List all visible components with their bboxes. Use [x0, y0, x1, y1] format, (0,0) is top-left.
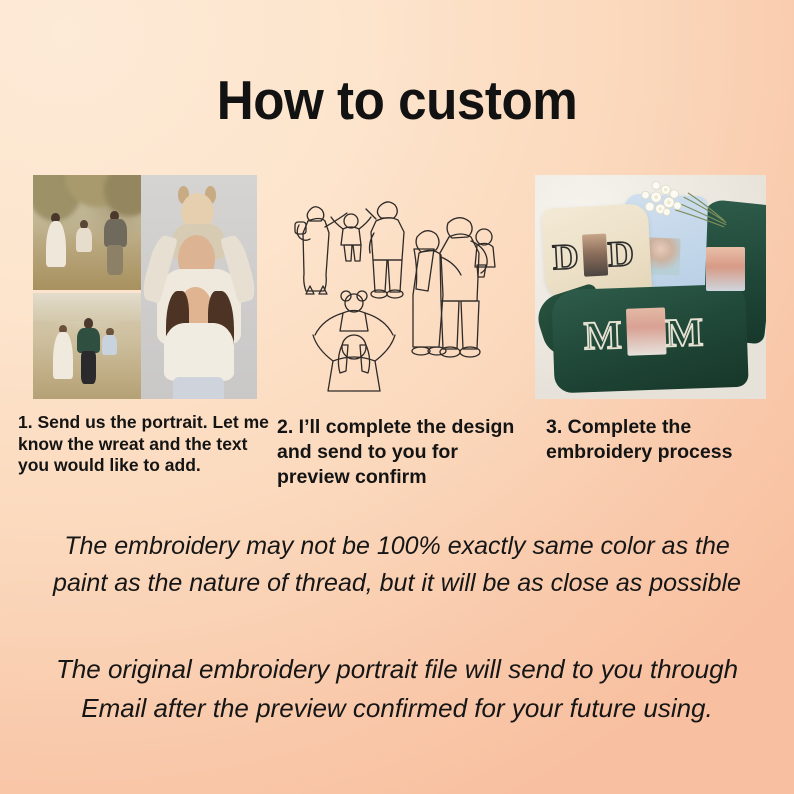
green-shirt-embroidery: [706, 247, 745, 292]
step-2-caption: 2. I’ll complete the design and send to …: [277, 415, 527, 490]
dad-letter-d-right: D: [607, 233, 636, 276]
dad-letter-d-left: D: [552, 236, 581, 279]
photo-collage: [33, 175, 257, 399]
how-to-custom-poster: How to custom: [0, 0, 794, 794]
mom-embroidery-portrait: [626, 307, 666, 356]
collage-left-column: [33, 175, 141, 399]
dad-embroidery-portrait: [583, 234, 609, 277]
mom-letter-m-left: M: [584, 311, 624, 359]
step-3-embroidery-photo: D D M M: [535, 175, 766, 399]
step-2-illustration-art: [281, 175, 505, 399]
family-line-art: [281, 175, 505, 399]
green-mom-sweatshirt: M M: [552, 284, 750, 394]
photo-family-on-path: [33, 290, 141, 399]
step-3-caption: 3. Complete the embroidery process: [546, 415, 790, 465]
step-1-image-collage: [33, 175, 257, 399]
file-delivery-note: The original embroidery portrait file wi…: [45, 650, 749, 728]
step-1-caption: 1. Send us the portrait. Let me know the…: [18, 412, 274, 477]
mom-letter-m-right: M: [665, 308, 705, 356]
photo-family-portrait: [141, 175, 257, 399]
photo-family-in-field: [33, 175, 141, 290]
page-title: How to custom: [28, 72, 766, 130]
white-flower-bouquet: [637, 175, 743, 251]
embroidery-color-note: The embroidery may not be 100% exactly s…: [45, 528, 749, 602]
